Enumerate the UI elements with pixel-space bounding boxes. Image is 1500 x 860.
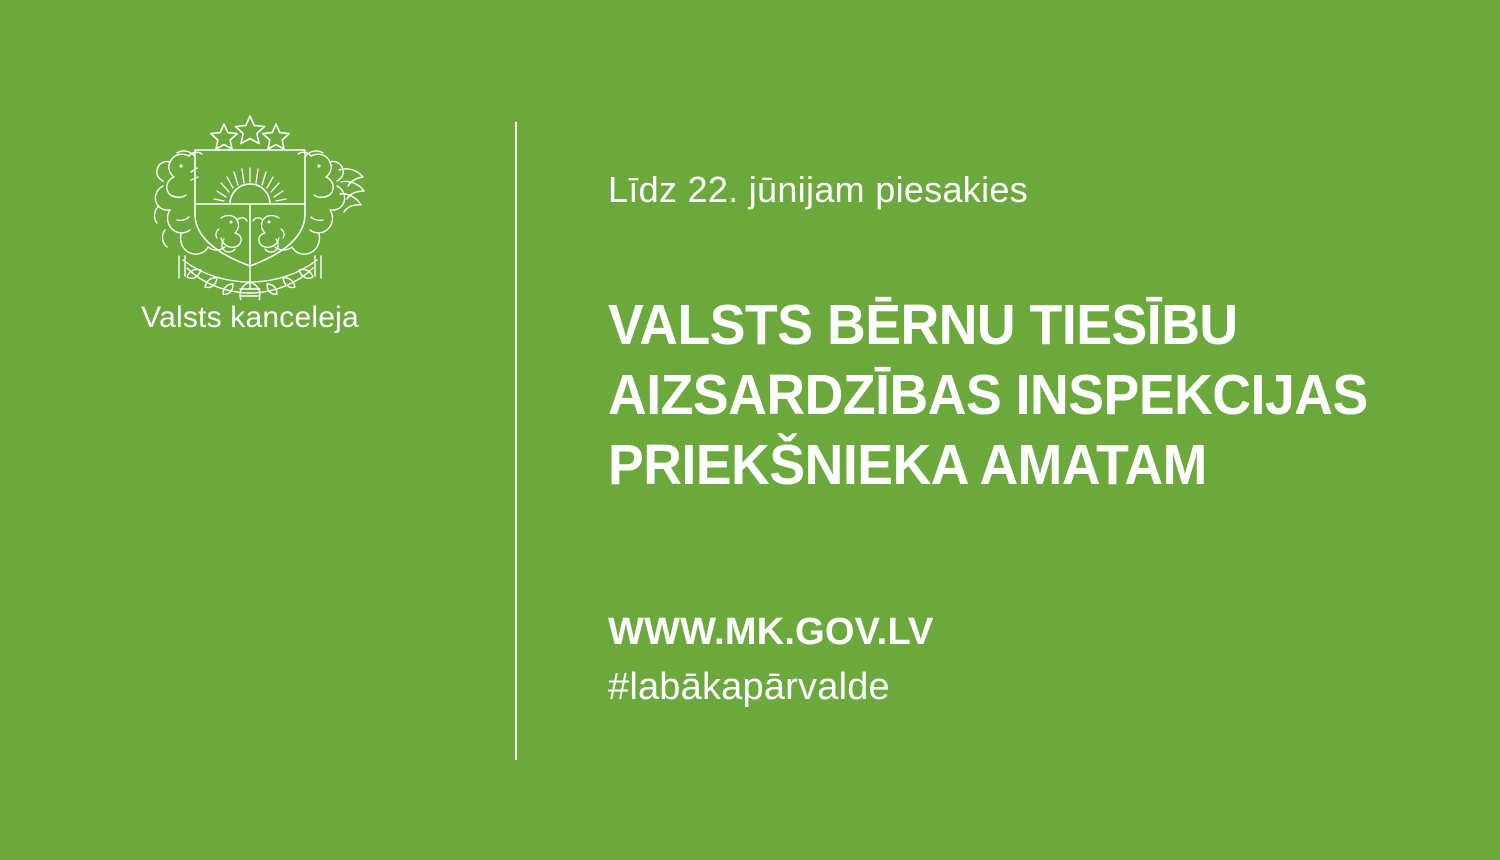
campaign-hashtag[interactable]: #labākapārvalde [608,663,1468,711]
headline-line-1: VALSTS BĒRNU TIESĪBU [608,290,1416,360]
headline-line-3: PRIEKŠNIEKA AMATAM [608,430,1416,500]
website-url[interactable]: WWW.MK.GOV.LV [608,608,1468,656]
poster-canvas: Valsts kanceleja Līdz 22. jūnijam piesak… [0,0,1500,860]
content-block: Līdz 22. jūnijam piesakies VALSTS BĒRNU … [608,0,1468,860]
vertical-divider-icon [515,122,517,760]
page-title: VALSTS BĒRNU TIESĪBU AIZSARDZĪBAS INSPEK… [608,290,1468,500]
brand-name: Valsts kanceleja [0,300,500,336]
kicker-text: Līdz 22. jūnijam piesakies [608,168,1028,212]
latvia-coat-of-arms-icon [125,110,375,300]
headline-line-2: AIZSARDZĪBAS INSPEKCIJAS [608,360,1416,430]
brand-block: Valsts kanceleja [0,0,500,860]
footer-block: WWW.MK.GOV.LV #labākapārvalde [608,608,1468,711]
